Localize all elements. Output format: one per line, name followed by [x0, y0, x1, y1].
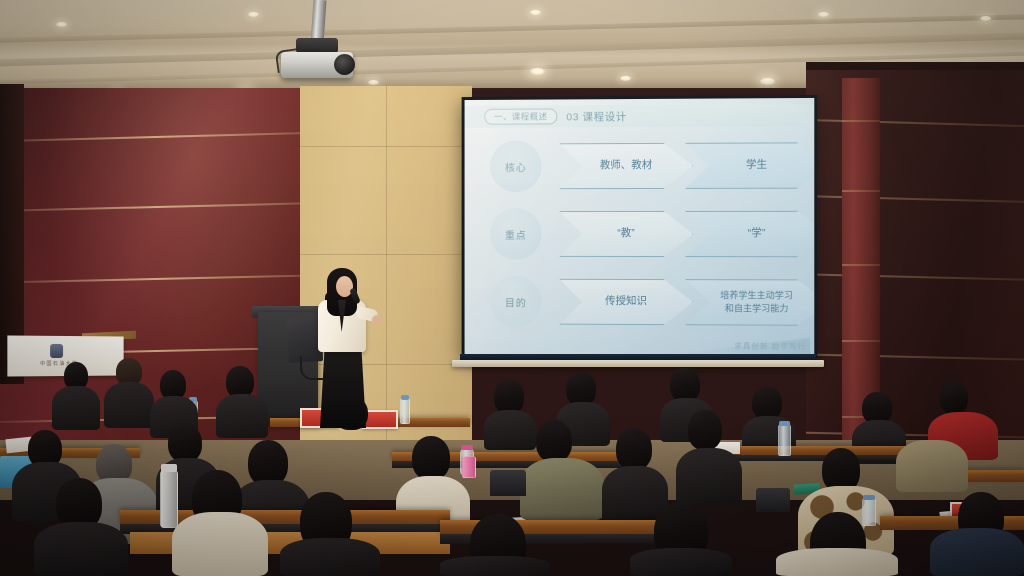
projection-screen: 一、课程概述 03 课程设计 核心 教师、教材 学生 重点 “教” “学” [462, 95, 818, 359]
audience-body [172, 512, 268, 576]
audience-head [494, 380, 524, 414]
water-bottle [778, 424, 791, 456]
audience-body [52, 386, 100, 430]
projector-bracket [296, 38, 338, 53]
audience-body [676, 448, 742, 504]
chair-back [490, 470, 526, 496]
chair-back [756, 488, 790, 512]
wall-seam [842, 120, 880, 122]
wall-seam [842, 190, 880, 192]
arrow-to: 学生 [685, 142, 814, 189]
audience-body [34, 522, 128, 576]
audience-body [104, 382, 154, 428]
slide-section-pill: 一、课程概述 [484, 108, 557, 124]
ceiling-downlight [56, 22, 67, 27]
row-label-bubble: 目的 [490, 276, 541, 328]
arrow-from: “教” [559, 211, 693, 257]
presenter-hand [372, 315, 383, 324]
audience-head [566, 372, 596, 406]
audience-body [896, 440, 968, 492]
audience-body [484, 410, 536, 450]
university-logo-icon [50, 344, 63, 358]
wall-seam [806, 354, 1024, 361]
water-bottle [862, 498, 876, 526]
thermos-bottle [160, 470, 178, 528]
audience-head [670, 368, 700, 402]
audience-body [280, 538, 380, 576]
audience-body [930, 528, 1024, 576]
screen-roller-rail [452, 360, 824, 367]
audience-head [616, 428, 652, 470]
audience-head [940, 382, 968, 414]
diagram-row: 重点 “教” “学” [465, 203, 815, 266]
ceiling-downlight [818, 12, 829, 17]
projector-lens-icon [334, 54, 355, 75]
audience-body [520, 458, 604, 520]
presentation-slide: 一、课程概述 03 课程设计 核心 教师、教材 学生 重点 “教” “学” [465, 98, 815, 356]
water-bottle [400, 398, 410, 424]
presenter-skirt [320, 348, 366, 428]
screen-surface: 一、课程概述 03 课程设计 核心 教师、教材 学生 重点 “教” “学” [465, 98, 815, 356]
water-bottle [462, 456, 476, 478]
wall-seam [806, 273, 1024, 280]
lecture-hall-photo: 一、课程概述 03 课程设计 核心 教师、教材 学生 重点 “教” “学” [0, 0, 1024, 576]
audience-body [216, 394, 268, 438]
slide-header: 一、课程概述 03 课程设计 [465, 104, 815, 128]
ceiling-downlight [248, 12, 259, 17]
wall-seam [806, 195, 1024, 203]
slide-motto: 求真创新 励学笃行 [734, 341, 806, 352]
audience-body [440, 556, 550, 576]
audience-head [688, 410, 722, 450]
desk-edge [716, 455, 916, 461]
wall-seam [842, 264, 880, 266]
audience-body [776, 548, 898, 576]
arrow-to-line1: 培养学生主动学习 [720, 290, 793, 300]
arrow-to: “学” [685, 211, 814, 257]
wall-panel-line [386, 86, 387, 464]
diagram-row: 目的 传授知识 培养学生主动学习 和自主学习能力 [465, 271, 815, 334]
arrow-to: 培养学生主动学习 和自主学习能力 [685, 279, 814, 326]
arrow-to-line2: 和自主学习能力 [725, 303, 789, 313]
audience-head [536, 420, 572, 462]
arrow-from: 教师、教材 [559, 143, 693, 189]
ceiling-downlight [980, 16, 991, 21]
arrow-from: 传授知识 [559, 279, 693, 325]
audience-head [752, 386, 782, 420]
audience-body [630, 548, 732, 576]
wall-seam [842, 340, 880, 342]
diagram-row: 核心 教师、教材 学生 [465, 134, 815, 197]
audience-head [412, 436, 450, 480]
row-label-bubble: 核心 [490, 140, 541, 192]
row-label-bubble: 重点 [490, 208, 541, 260]
slide-diagram: 核心 教师、教材 学生 重点 “教” “学” 目的 传授知识 [465, 130, 815, 348]
wall-seam [806, 119, 1024, 127]
slide-title: 03 课程设计 [566, 109, 627, 124]
ceiling-downlight [530, 10, 541, 15]
ceiling-downlight [530, 68, 545, 75]
audience-head [168, 424, 202, 462]
